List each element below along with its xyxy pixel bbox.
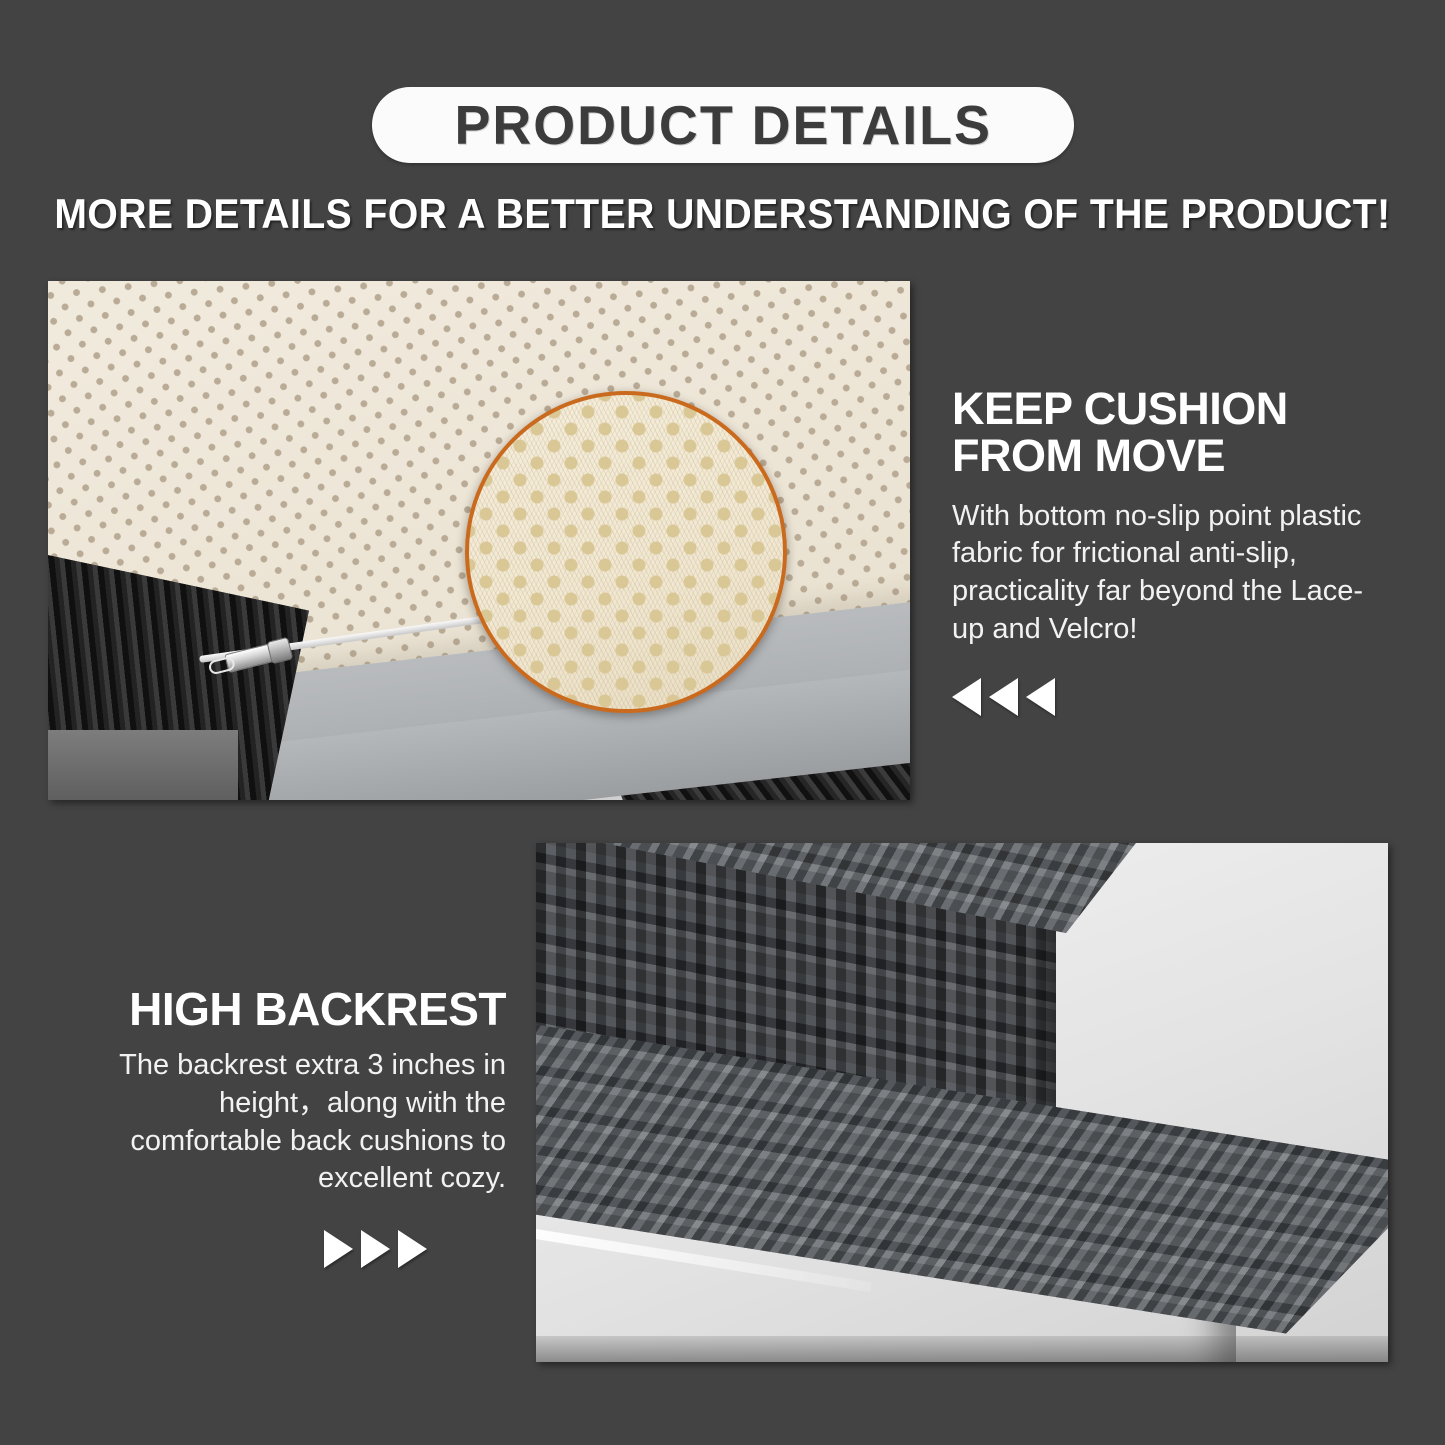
triangle-left-icon <box>989 678 1018 716</box>
triangle-left-icon <box>1026 678 1055 716</box>
keep-cushion-body: With bottom no-slip point plastic fabric… <box>952 498 1372 649</box>
right-arrows-group <box>66 1230 506 1268</box>
triangle-left-icon <box>952 678 981 716</box>
left-arrows-group <box>952 678 1372 716</box>
triangle-right-icon <box>324 1230 353 1268</box>
floor-shade <box>536 1336 1388 1362</box>
zipper-ring <box>207 656 236 676</box>
triangle-right-icon <box>361 1230 390 1268</box>
triangle-right-icon <box>398 1230 427 1268</box>
high-backrest-body: The backrest extra 3 inches in height，al… <box>66 1047 506 1198</box>
page-title-pill: PRODUCT DETAILS <box>372 87 1074 163</box>
infographic-page: PRODUCT DETAILS MORE DETAILS FOR A BETTE… <box>0 0 1445 1445</box>
keep-cushion-heading: KEEP CUSHION FROM MOVE <box>952 386 1372 480</box>
high-backrest-heading: HIGH BACKREST <box>66 985 506 1033</box>
page-title: PRODUCT DETAILS <box>454 93 991 157</box>
keep-cushion-section: KEEP CUSHION FROM MOVE With bottom no-sl… <box>952 386 1372 716</box>
fabric-magnifier-circle <box>465 391 787 713</box>
floor-strip <box>48 730 238 800</box>
rattan-backrest-photo <box>536 843 1388 1362</box>
page-subtitle: MORE DETAILS FOR A BETTER UNDERSTANDING … <box>51 190 1395 238</box>
high-backrest-section: HIGH BACKREST The backrest extra 3 inche… <box>66 985 506 1268</box>
cushion-underside-photo <box>48 281 910 800</box>
